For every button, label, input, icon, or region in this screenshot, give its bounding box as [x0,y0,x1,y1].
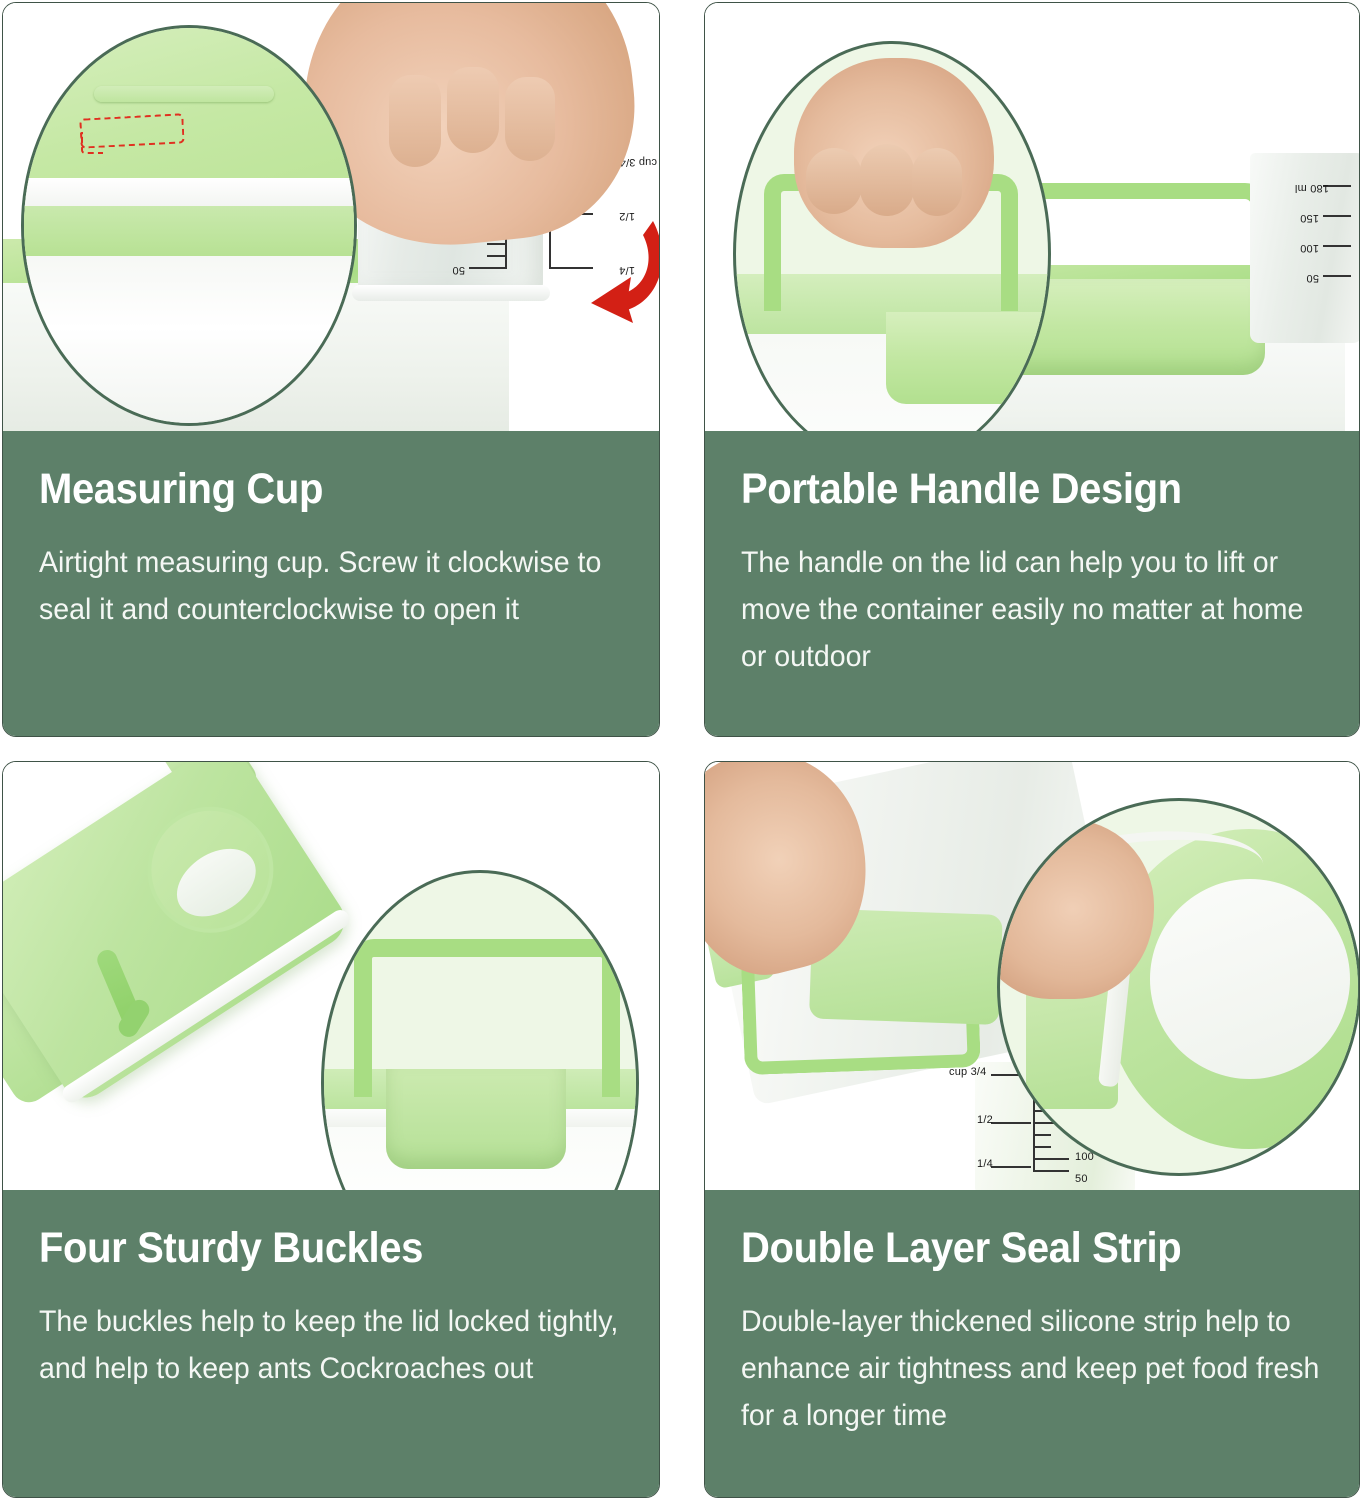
rotate-arrow-icon [581,215,659,327]
measuring-cup-scale: 50 100 150 180 ml [1261,171,1357,291]
scale-tick [1323,245,1351,247]
hand [997,819,1154,999]
fraction-tick [991,1122,1031,1124]
scale-label-ml: 150 [1300,212,1319,224]
scale-label-cup: 1/4 [977,1158,993,1170]
caption-four-sturdy-buckles: Four Sturdy Buckles The buckles help to … [3,1190,659,1497]
feature-card-portable-handle: 50 100 150 180 ml Portable Handle Design… [704,2,1360,737]
scale-tick [487,255,505,257]
scale-tick [469,267,505,269]
fraction-tick [991,1166,1031,1168]
finger [806,148,862,214]
zoom-container-body [21,256,357,426]
scale-tick [1035,1170,1069,1172]
zoom-buckle [386,1069,566,1169]
finger [389,75,441,167]
scale-tick [1035,1158,1069,1160]
feature-description: The handle on the lid can help you to li… [741,539,1322,680]
caption-double-layer-seal-strip: Double Layer Seal Strip Double-layer thi… [705,1190,1359,1497]
feature-description: Double-layer thickened silicone strip he… [741,1298,1322,1439]
magnifier-inset [997,798,1359,1176]
scale-label-cup: 1/2 [977,1114,993,1126]
cup-socket [123,783,297,957]
scale-label-ml: 100 [1300,242,1319,254]
product-photo-portable-handle: 50 100 150 180 ml [705,3,1359,431]
zoom-seal-ring [21,178,357,208]
product-photo-double-layer-seal-strip: 180 ml 150 100 50 cup 3/4 1/2 1/4 [705,762,1359,1190]
product-photo-measuring-cup: 50 100 150 180 ml 1/4 1/2 cup 3/4 [3,3,659,431]
caption-portable-handle: Portable Handle Design The handle on the… [705,431,1359,736]
feature-title: Four Sturdy Buckles [39,1226,582,1272]
feature-card-four-sturdy-buckles: Four Sturdy Buckles The buckles help to … [2,761,660,1498]
scale-tick [1323,215,1351,217]
feature-description: The buckles help to keep the lid locked … [39,1298,622,1392]
scale-label-cup: cup 3/4 [620,156,657,168]
feature-card-double-layer-seal-strip: 180 ml 150 100 50 cup 3/4 1/2 1/4 [704,761,1360,1498]
scale-tick [1323,275,1351,277]
caption-measuring-cup: Measuring Cup Airtight measuring cup. Sc… [3,431,659,736]
zoom-lid-band [21,206,357,258]
magnifier-inset [21,25,357,426]
red-dashed-highlight-tail [81,132,103,154]
scale-label-ml: 50 [1075,1173,1088,1185]
scale-label-cup: cup 3/4 [949,1066,986,1078]
finger [912,148,962,216]
feature-title: Portable Handle Design [741,467,1282,513]
scale-label-ml: 50 [1306,272,1319,284]
zoom-lid-groove [94,86,274,102]
cup-socket-inner [164,835,268,930]
measuring-cup-rim [352,285,550,301]
finger [447,67,499,153]
scale-tick [1035,1134,1051,1136]
scale-label-ml: 50 [452,264,465,276]
scale-label-ml: 180 ml [1295,182,1329,194]
zoom-buckle [886,312,1046,404]
feature-title: Double Layer Seal Strip [741,1226,1282,1272]
feature-grid: 50 100 150 180 ml 1/4 1/2 cup 3/4 [0,0,1362,1500]
scale-tick [1035,1146,1051,1148]
feature-title: Measuring Cup [39,467,582,513]
feature-description: Airtight measuring cup. Screw it clockwi… [39,539,622,633]
finger [860,144,914,216]
scale-tick [487,243,505,245]
product-photo-four-sturdy-buckles [3,762,659,1190]
finger [505,77,555,161]
feature-card-measuring-cup: 50 100 150 180 ml 1/4 1/2 cup 3/4 [2,2,660,737]
